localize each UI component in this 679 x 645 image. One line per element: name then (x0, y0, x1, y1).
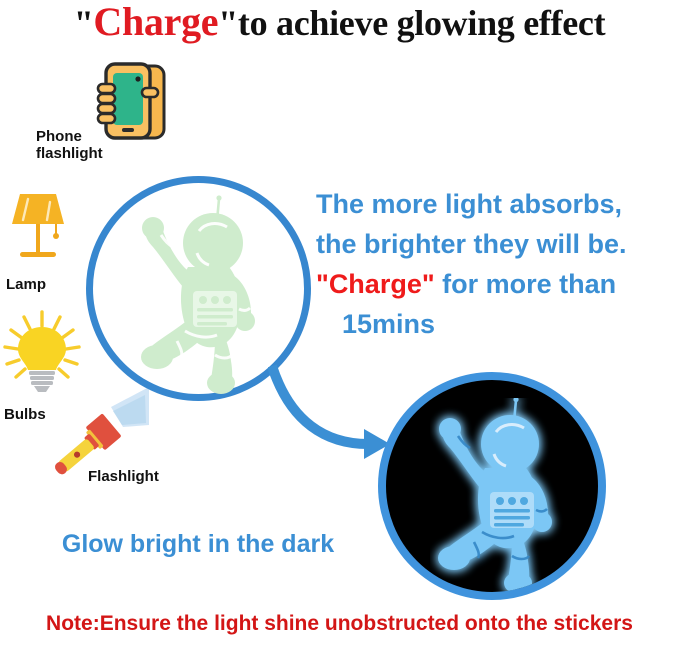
title-charge-word: Charge (93, 0, 218, 44)
label-phone-flashlight-l2: flashlight (36, 145, 103, 162)
astronaut-glowing-circle (378, 372, 606, 600)
page-title: "Charge"to achieve glowing effect (0, 2, 679, 43)
astronaut-unlit-figure (133, 195, 283, 395)
phone-in-hand-icon (96, 60, 172, 150)
label-flashlight: Flashlight (88, 468, 159, 485)
glow-caption: Glow bright in the dark (0, 530, 396, 559)
instruction-quote-close: " (422, 269, 435, 299)
sidebar-item-flashlight: Flashlight (88, 468, 159, 485)
instruction-line-4: 15mins (316, 304, 679, 344)
poster-canvas: "Charge"to achieve glowing effect Phonef… (0, 0, 679, 645)
instruction-charge-word: Charge (329, 269, 422, 299)
note-text: Note:Ensure the light shine unobstructed… (0, 612, 679, 636)
instruction-line-3-rest: for more than (435, 269, 617, 299)
dark-circle-background (378, 372, 606, 600)
astronaut-glowing-figure (430, 398, 580, 593)
sidebar-item-phone-flashlight: Phoneflashlight (36, 128, 103, 162)
label-bulbs: Bulbs (4, 406, 46, 423)
instruction-text: The more light absorbs, the brighter the… (316, 184, 679, 344)
label-phone-flashlight-l1: Phone (36, 128, 82, 145)
label-lamp: Lamp (6, 276, 46, 293)
title-quote-close: " (218, 3, 238, 43)
instruction-quote-open: " (316, 269, 329, 299)
title-quote-open: " (74, 3, 94, 43)
instruction-line-2: the brighter they will be. (316, 229, 627, 259)
title-rest: to achieve glowing effect (238, 3, 605, 43)
light-bulb-icon (2, 310, 82, 395)
sidebar-item-bulbs: Bulbs (4, 406, 46, 423)
sidebar-item-lamp: Lamp (6, 276, 46, 293)
instruction-line-1: The more light absorbs, (316, 189, 622, 219)
desk-lamp-icon (6, 190, 70, 265)
